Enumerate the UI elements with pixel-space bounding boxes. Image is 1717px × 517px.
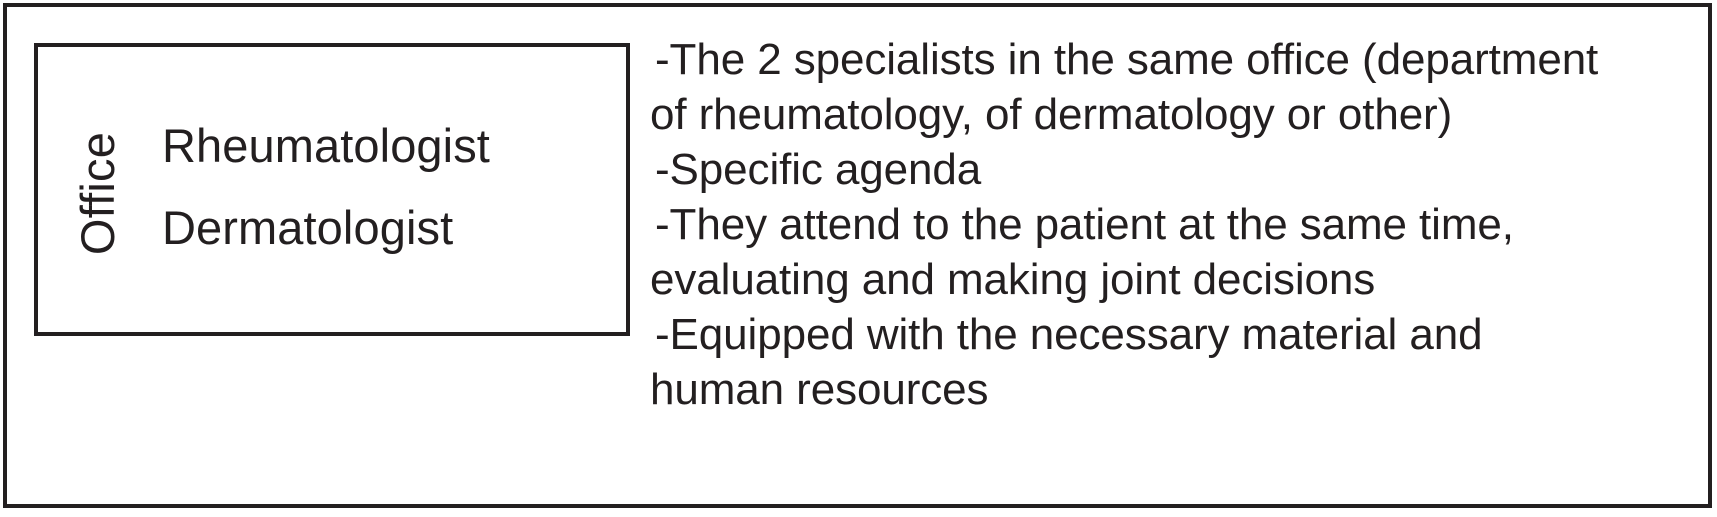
- description-line: -Specific agenda: [650, 142, 1710, 197]
- specialist-label-rheumatologist: Rheumatologist: [162, 122, 630, 170]
- description-block: -The 2 specialists in the same office (d…: [650, 32, 1710, 417]
- description-line: -Equipped with the necessary material an…: [650, 307, 1710, 362]
- figure-root: Office Rheumatologist Dermatologist -The…: [0, 0, 1717, 517]
- specialist-list: Rheumatologist Dermatologist: [162, 47, 630, 332]
- description-line: of rheumatology, of dermatology or other…: [650, 87, 1710, 142]
- description-line: evaluating and making joint decisions: [650, 252, 1710, 307]
- office-vertical-label: Office: [38, 47, 156, 340]
- description-line: -The 2 specialists in the same office (d…: [650, 32, 1710, 87]
- description-line: human resources: [650, 362, 1710, 417]
- specialist-label-dermatologist: Dermatologist: [162, 204, 630, 252]
- description-line: -They attend to the patient at the same …: [650, 197, 1710, 252]
- outer-frame-border: Office Rheumatologist Dermatologist -The…: [3, 3, 1712, 508]
- office-box: Office Rheumatologist Dermatologist: [34, 43, 630, 336]
